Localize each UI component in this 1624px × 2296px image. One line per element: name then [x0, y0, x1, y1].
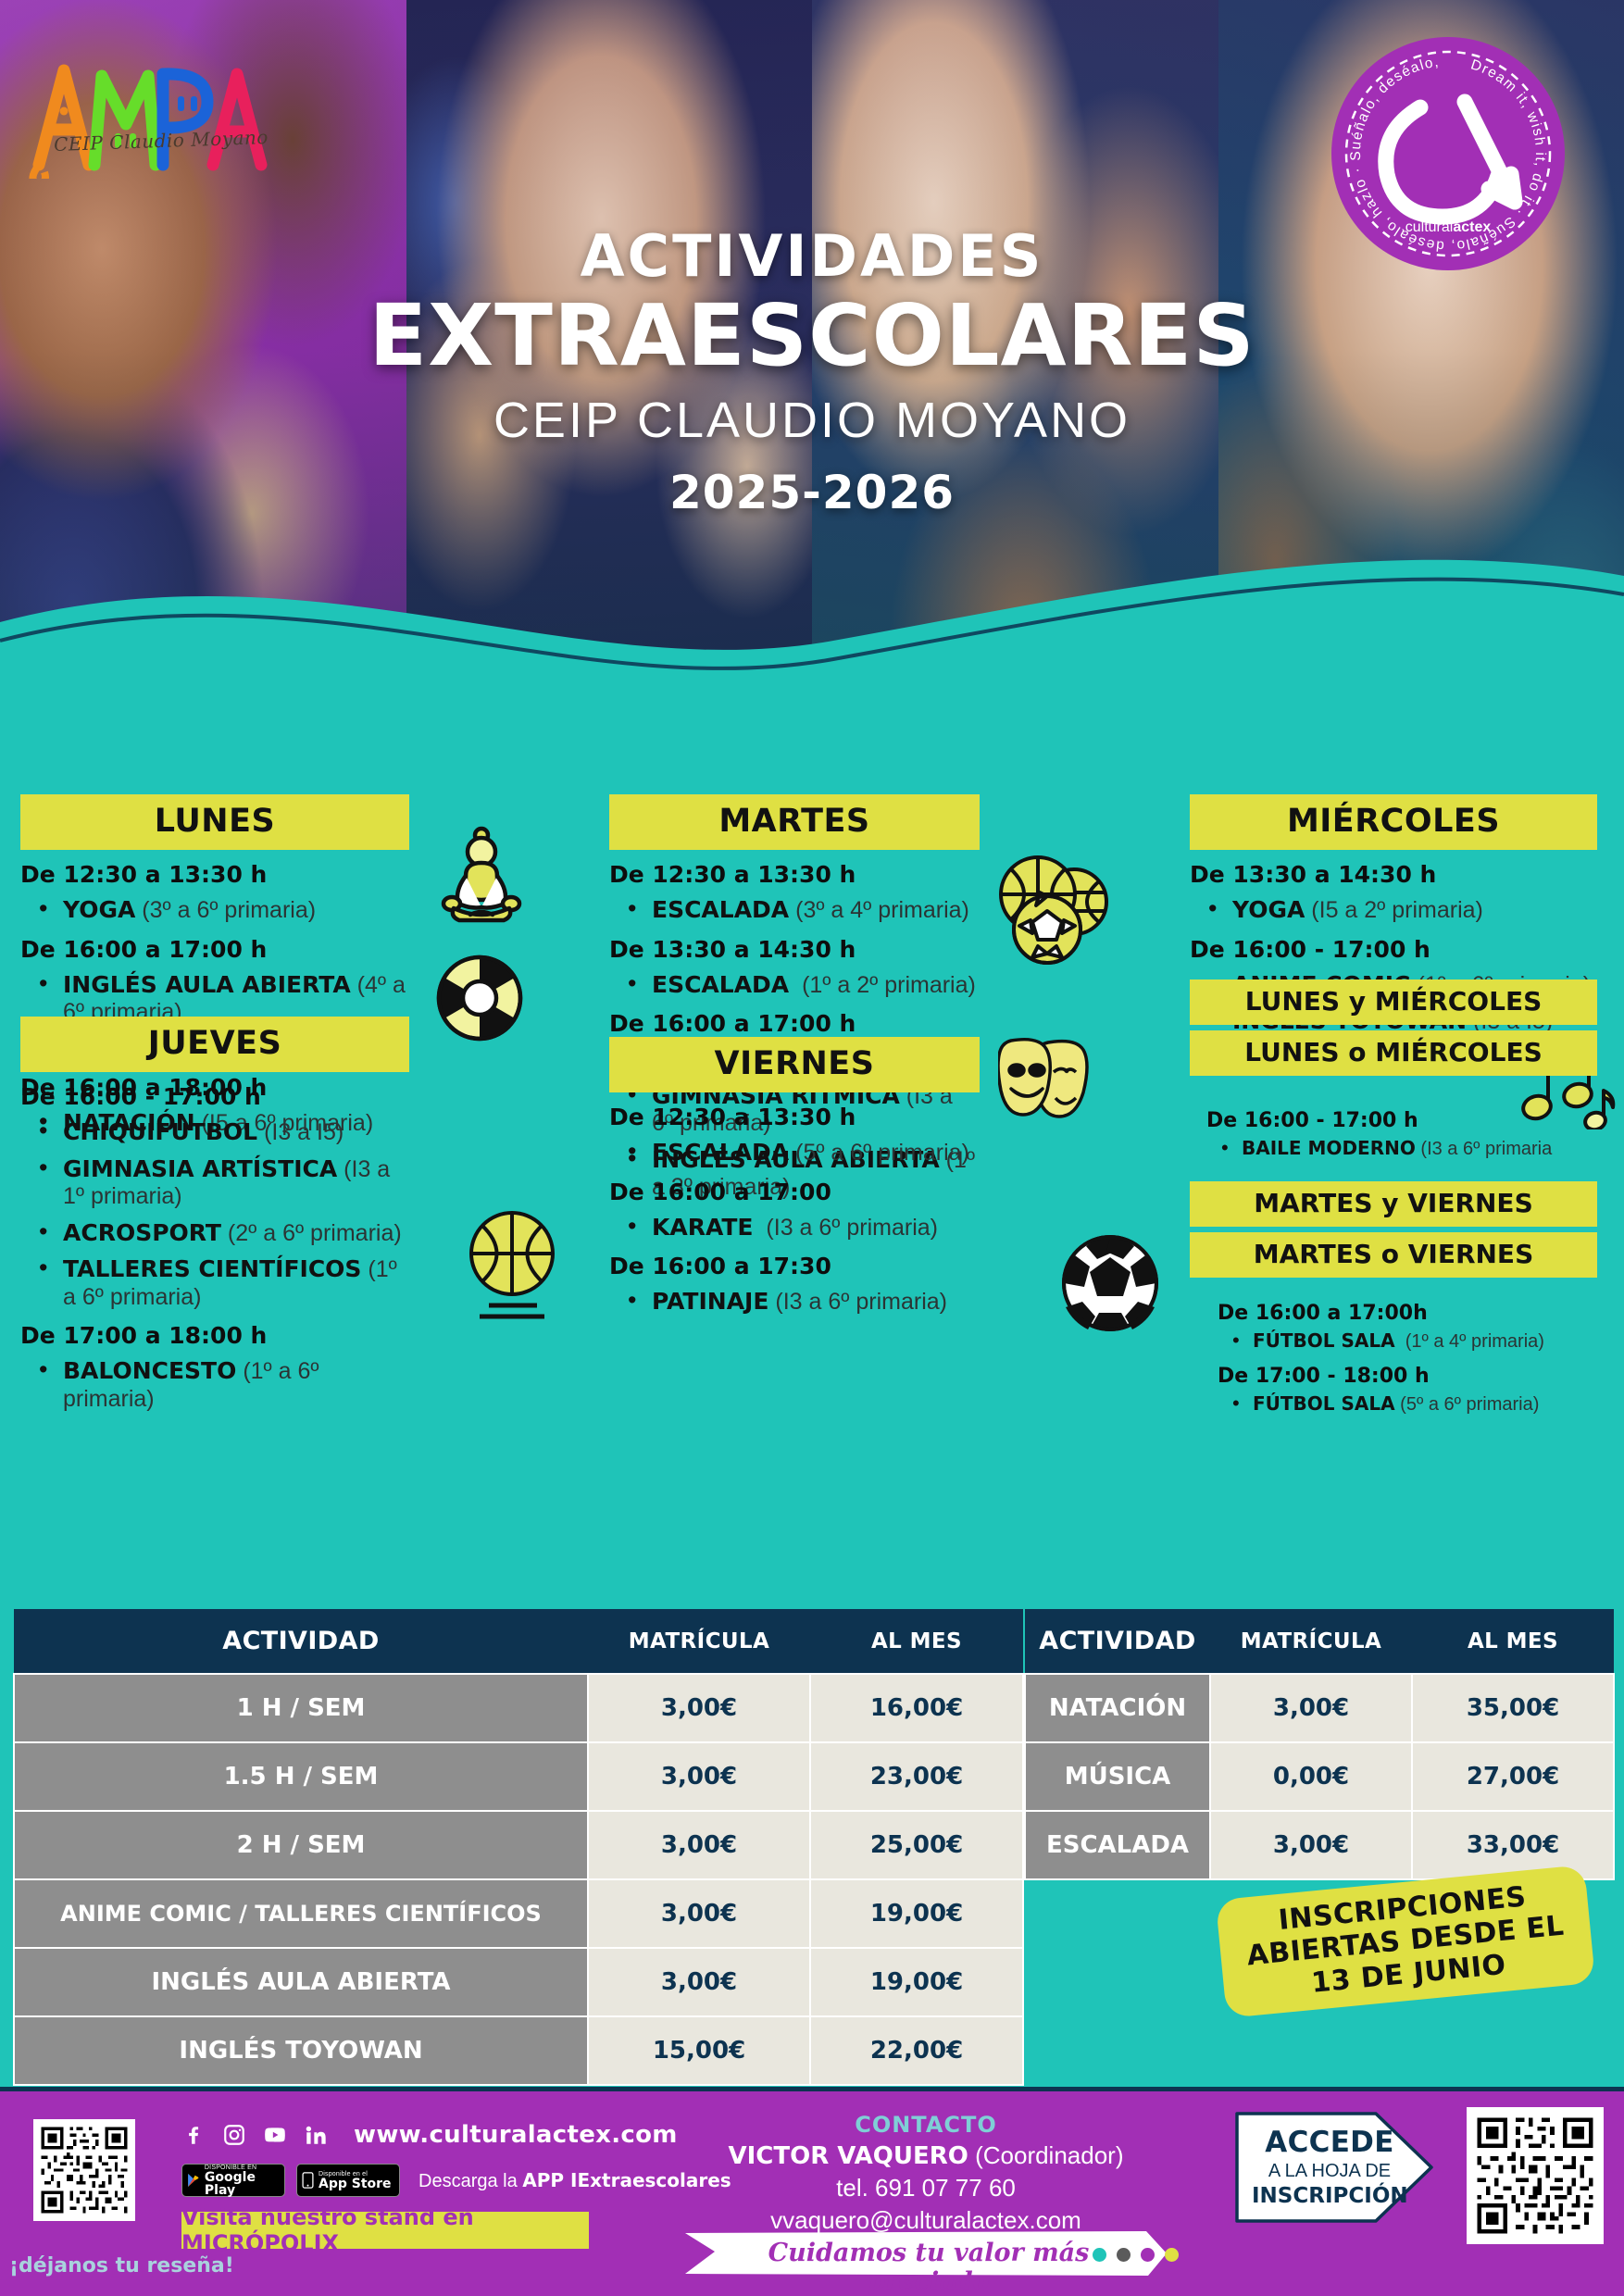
instagram-icon[interactable] — [222, 2123, 246, 2147]
time-block: De 16:00 - 17:00 h — [1206, 1109, 1597, 1132]
day-header-lunes: LUNES — [20, 794, 409, 850]
cell-matricula: 3,00€ — [1210, 1811, 1412, 1879]
time-block: De 13:30 a 14:30 h — [1190, 861, 1597, 888]
cell-almes: 33,00€ — [1412, 1811, 1614, 1879]
table-row: ESCALADA 3,00€ 33,00€ — [1025, 1811, 1614, 1879]
contact-role: (Coordinador) — [968, 2141, 1124, 2169]
day-header-miercoles: MIÉRCOLES — [1190, 794, 1597, 850]
dot-grey — [1117, 2248, 1131, 2262]
cell-matricula: 3,00€ — [588, 1948, 810, 2016]
contact-block: CONTACTO VICTOR VAQUERO (Coordinador) te… — [648, 2112, 1204, 2235]
google-play-badge[interactable]: DISPONIBLE ENGoogle Play — [181, 2164, 285, 2197]
cell-almes: 23,00€ — [810, 1742, 1023, 1811]
table-row: INGLÉS TOYOWAN 15,00€ 22,00€ — [14, 2016, 1023, 2085]
qr-code-review[interactable] — [33, 2119, 135, 2221]
table-row: 2 H / SEM 3,00€ 25,00€ — [14, 1811, 1023, 1879]
basketball-icon — [461, 1209, 563, 1325]
time-block: De 12:30 a 13:30 h — [20, 861, 409, 888]
cell-almes: 19,00€ — [810, 1879, 1023, 1948]
time-block: De 13:30 a 14:30 h — [609, 936, 980, 963]
activity-list: BAILE MODERNO (I3 a 6º primaria — [1206, 1138, 1597, 1161]
col-matricula: MATRÍCULA — [588, 1609, 810, 1674]
cell-activity: 2 H / SEM — [14, 1811, 588, 1879]
time-block: De 16:00 a 17:00 h — [609, 1010, 980, 1037]
contact-title: CONTACTO — [648, 2112, 1204, 2138]
table-header-row: ACTIVIDAD MATRÍCULA AL MES — [1025, 1609, 1614, 1674]
fees-table-left: ACTIVIDAD MATRÍCULA AL MES 1 H / SEM 3,0… — [13, 1609, 1024, 2086]
day-header-viernes: VIERNES — [609, 1037, 980, 1092]
time-block: De 16:00 a 17:30 — [609, 1253, 980, 1279]
activity-list: FÚTBOL SALA (5º a 6º primaria) — [1218, 1393, 1597, 1416]
day-header-jueves: JUEVES — [20, 1017, 409, 1072]
cell-matricula: 3,00€ — [588, 1811, 810, 1879]
yoga-icon — [435, 822, 528, 926]
cell-almes: 25,00€ — [810, 1811, 1023, 1879]
cell-empty — [1025, 2016, 1614, 2085]
table-row — [1025, 2016, 1614, 2085]
contact-name: VICTOR VAQUERO — [728, 2142, 968, 2170]
activity-list: ESCALADA (1º a 2º primaria) — [609, 971, 980, 1000]
cell-matricula: 3,00€ — [588, 1674, 810, 1742]
google-play-icon — [187, 2172, 200, 2189]
combo-header-martes-y-viernes: MARTES y VIERNES — [1190, 1181, 1597, 1227]
facebook-icon[interactable] — [181, 2123, 206, 2147]
lifebuoy-icon — [435, 954, 524, 1042]
list-item: BAILE MODERNO (I3 a 6º primaria — [1206, 1138, 1597, 1161]
social-links: www.culturalactex.com — [181, 2121, 678, 2149]
time-block: De 16:00 - 17:00 h — [1190, 936, 1597, 963]
list-item: PATINAJE (I3 a 6º primaria) — [609, 1288, 980, 1316]
apple-device-icon — [302, 2172, 314, 2189]
list-item: GIMNASIA ARTÍSTICA (I3 a 1º primaria) — [20, 1155, 409, 1211]
cell-activity: MÚSICA — [1025, 1742, 1210, 1811]
cell-matricula: 0,00€ — [1210, 1742, 1412, 1811]
activity-list: FÚTBOL SALA (1º a 4º primaria) — [1218, 1330, 1597, 1354]
day-column-viernes: VIERNES De 12:30 a 13:30 h ESCALADA (5º … — [609, 1037, 980, 1316]
list-item: FÚTBOL SALA (5º a 6º primaria) — [1218, 1393, 1597, 1416]
time-block: De 16:00 a 17:00 h — [20, 936, 409, 963]
cell-almes: 35,00€ — [1412, 1674, 1614, 1742]
football-icon — [1060, 1233, 1160, 1333]
school-year: 2025-2026 — [0, 466, 1624, 519]
accede-line-1: ACCEDE — [1252, 2126, 1407, 2159]
cell-matricula: 15,00€ — [588, 2016, 810, 2085]
balls-icon — [995, 854, 1116, 967]
table-row: NATACIÓN 3,00€ 35,00€ — [1025, 1674, 1614, 1742]
dot-yellow — [1165, 2248, 1179, 2262]
contact-name-line: VICTOR VAQUERO (Coordinador) — [648, 2141, 1204, 2170]
qr-code-inscription[interactable] — [1467, 2107, 1604, 2244]
accede-label: ACCEDE A LA HOJA DE INSCRIPCIÓN — [1252, 2126, 1407, 2208]
table-row: 1 H / SEM 3,00€ 16,00€ — [14, 1674, 1023, 1742]
table-row: 1.5 H / SEM 3,00€ 23,00€ — [14, 1742, 1023, 1811]
cell-activity: 1 H / SEM — [14, 1674, 588, 1742]
list-item: ESCALADA (5º a 6º primaria) — [609, 1139, 980, 1167]
title-extraescolares: EXTRAESCOLARES — [0, 293, 1624, 379]
list-item: KARATE (I3 a 6º primaria) — [609, 1214, 980, 1242]
theatre-masks-icon — [998, 1035, 1100, 1128]
hero-title-group: ACTIVIDADES EXTRAESCOLARES CEIP CLAUDIO … — [0, 222, 1624, 519]
activity-list: YOGA (3º a 6º primaria) — [20, 896, 409, 925]
activity-list: YOGA (I5 a 2º primaria) — [1190, 896, 1597, 925]
table-row: INGLÉS AULA ABIERTA 3,00€ 19,00€ — [14, 1948, 1023, 2016]
combo-martes-viernes: MARTES y VIERNES MARTES o VIERNES De 16:… — [1190, 1181, 1597, 1416]
brand-dots — [1093, 2248, 1179, 2262]
website-url[interactable]: www.culturalactex.com — [354, 2121, 678, 2149]
title-actividades: ACTIVIDADES — [0, 222, 1624, 290]
cell-activity: ANIME COMIC / TALLERES CIENTÍFICOS — [14, 1879, 588, 1948]
list-item: ESCALADA (3º a 4º primaria) — [609, 896, 980, 925]
cell-activity: ESCALADA — [1025, 1811, 1210, 1879]
subtitle-school: CEIP CLAUDIO MOYANO — [0, 392, 1624, 449]
combo-header-martes-o-viernes: MARTES o VIERNES — [1190, 1232, 1597, 1278]
table-row: MÚSICA 0,00€ 27,00€ — [1025, 1742, 1614, 1811]
time-block: De 16:00 - 17:00 h — [20, 1083, 409, 1110]
combo-lunes-miercoles: LUNES y MIÉRCOLES LUNES o MIÉRCOLES De 1… — [1190, 980, 1597, 1161]
schedule-section: LUNES De 12:30 a 13:30 h YOGA (3º a 6º p… — [0, 778, 1624, 1592]
time-block: De 17:00 - 18:00 h — [1218, 1365, 1597, 1388]
col-al-mes: AL MES — [810, 1609, 1023, 1674]
dot-purple — [1141, 2248, 1155, 2262]
list-item: YOGA (I5 a 2º primaria) — [1190, 896, 1597, 925]
activity-list: PATINAJE (I3 a 6º primaria) — [609, 1288, 980, 1316]
cell-activity: NATACIÓN — [1025, 1674, 1210, 1742]
cell-matricula: 3,00€ — [588, 1879, 810, 1948]
leave-review-label: ¡déjanos tu reseña! — [9, 2254, 234, 2277]
ampa-logo — [22, 44, 281, 179]
cell-activity: INGLÉS TOYOWAN — [14, 2016, 588, 2085]
list-item: YOGA (3º a 6º primaria) — [20, 896, 409, 925]
time-block: De 12:30 a 13:30 h — [609, 1104, 980, 1130]
table-header-row: ACTIVIDAD MATRÍCULA AL MES — [14, 1609, 1023, 1674]
activity-list: CHIQUIFÚTBOL (I3 a I5) GIMNASIA ARTÍSTIC… — [20, 1118, 409, 1311]
accede-line-2: A LA HOJA DE — [1252, 2161, 1407, 2182]
activity-list: BALONCESTO (1º a 6º primaria) — [20, 1357, 409, 1413]
table-row: ANIME COMIC / TALLERES CIENTÍFICOS 3,00€… — [14, 1879, 1023, 1948]
list-item: FÚTBOL SALA (1º a 4º primaria) — [1218, 1330, 1597, 1354]
combo-header-lunes-o-miercoles: LUNES o MIÉRCOLES — [1190, 1030, 1597, 1076]
activity-list: KARATE (I3 a 6º primaria) — [609, 1214, 980, 1242]
day-column-jueves: JUEVES De 16:00 - 17:00 h CHIQUIFÚTBOL (… — [20, 1017, 409, 1413]
cell-almes: 27,00€ — [1412, 1742, 1614, 1811]
day-header-martes: MARTES — [609, 794, 980, 850]
time-block: De 17:00 a 18:00 h — [20, 1322, 409, 1349]
activity-list: ESCALADA (5º a 6º primaria) — [609, 1139, 980, 1167]
col-matricula: MATRÍCULA — [1210, 1609, 1412, 1674]
activity-list: ESCALADA (3º a 4º primaria) — [609, 896, 980, 925]
col-actividad: ACTIVIDAD — [14, 1609, 588, 1674]
time-block: De 16:00 a 17:00 — [609, 1179, 980, 1205]
col-actividad: ACTIVIDAD — [1025, 1609, 1210, 1674]
micropolix-stand-banner: Visita nuestro stand en MICRÓPOLIX — [181, 2212, 589, 2249]
fees-table-right: ACTIVIDAD MATRÍCULA AL MES NATACIÓN 3,00… — [1024, 1609, 1615, 2086]
cell-activity: 1.5 H / SEM — [14, 1742, 588, 1811]
cell-matricula: 3,00€ — [588, 1742, 810, 1811]
app-store-badge[interactable]: Disponible en elApp Store — [296, 2164, 400, 2197]
cell-almes: 22,00€ — [810, 2016, 1023, 2085]
time-block: De 16:00 a 17:00h — [1218, 1302, 1597, 1325]
linkedin-icon[interactable] — [304, 2123, 328, 2147]
list-item: TALLERES CIENTÍFICOS (1º a 6º primaria) — [20, 1255, 409, 1311]
cell-almes: 16,00€ — [810, 1674, 1023, 1742]
list-item: CHIQUIFÚTBOL (I3 a I5) — [20, 1118, 409, 1147]
list-item: ESCALADA (1º a 2º primaria) — [609, 971, 980, 1000]
cell-matricula: 3,00€ — [1210, 1674, 1412, 1742]
combo-header-lunes-y-miercoles: LUNES y MIÉRCOLES — [1190, 980, 1597, 1025]
contact-phone[interactable]: tel. 691 07 77 60 — [648, 2174, 1204, 2202]
youtube-icon[interactable] — [263, 2123, 287, 2147]
app-store-big: App Store — [319, 2177, 392, 2190]
slogan-text: Cuidamos tu valor más preciado — [711, 2239, 1146, 2296]
google-play-big: Google Play — [205, 2171, 280, 2197]
list-item: BALONCESTO (1º a 6º primaria) — [20, 1357, 409, 1413]
cell-almes: 19,00€ — [810, 1948, 1023, 2016]
hero-banner: CEIP Claudio Moyano Dream it, wish it, d… — [0, 0, 1624, 778]
time-block: De 12:30 a 13:30 h — [609, 861, 980, 888]
accede-line-3: INSCRIPCIÓN — [1252, 2184, 1407, 2208]
cell-activity: INGLÉS AULA ABIERTA — [14, 1948, 588, 2016]
list-item: ACROSPORT (2º a 6º primaria) — [20, 1219, 409, 1248]
dot-teal — [1093, 2248, 1106, 2262]
col-al-mes: AL MES — [1412, 1609, 1614, 1674]
